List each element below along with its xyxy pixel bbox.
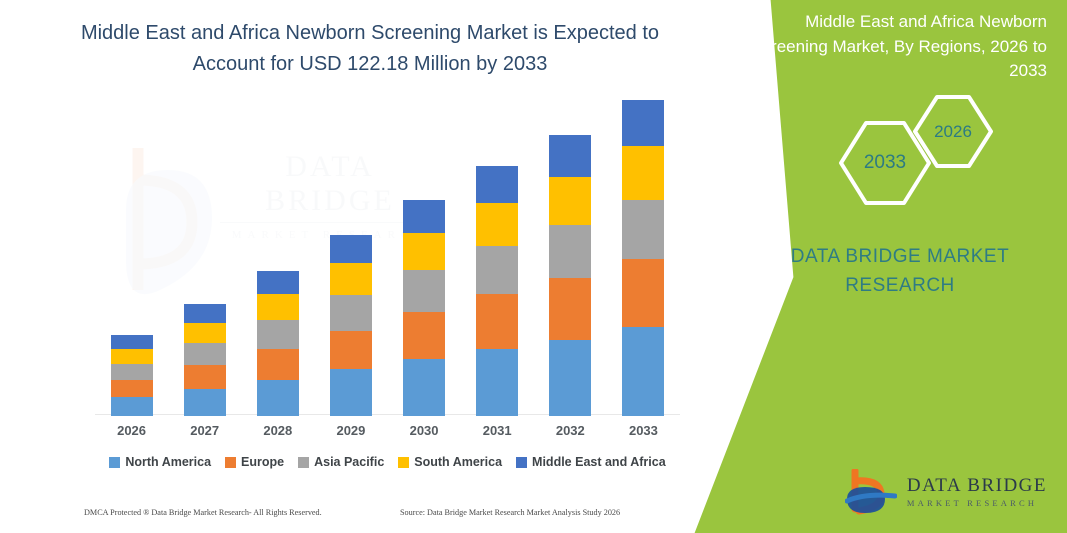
legend-label: Middle East and Africa (532, 455, 666, 469)
bar-segment-2032-south-america (549, 177, 591, 225)
bar-segment-2030-europe (403, 312, 445, 359)
bar-2026 (111, 335, 153, 416)
infographic-canvas: Middle East and Africa Newborn Screening… (0, 0, 1067, 533)
chart-legend: North AmericaEuropeAsia PacificSouth Ame… (95, 455, 680, 469)
x-tick-2031: 2031 (462, 423, 532, 438)
legend-swatch-icon (398, 457, 409, 468)
bar-segment-2030-north-america (403, 359, 445, 416)
logo-main-text: DATA BRIDGE (907, 476, 1047, 495)
bar-segment-2026-middle-east-and-africa (111, 335, 153, 349)
data-bridge-logo: DATA BRIDGE MARKET RESEARCH (845, 469, 1047, 515)
legend-item-south-america[interactable]: South America (398, 455, 502, 469)
hexagon-badges: 2026 2033 (839, 95, 1019, 205)
bar-segment-2028-north-america (257, 380, 299, 416)
bar-segment-2028-middle-east-and-africa (257, 271, 299, 294)
x-tick-2027: 2027 (170, 423, 240, 438)
legend-swatch-icon (109, 457, 120, 468)
x-tick-2033: 2033 (608, 423, 678, 438)
bar-segment-2033-south-america (622, 146, 664, 200)
footer-copyright: DMCA Protected ® Data Bridge Market Rese… (84, 508, 322, 517)
legend-label: Asia Pacific (314, 455, 384, 469)
bar-segment-2033-europe (622, 259, 664, 327)
x-tick-2028: 2028 (243, 423, 313, 438)
x-tick-2026: 2026 (97, 423, 167, 438)
footer: DMCA Protected ® Data Bridge Market Rese… (0, 508, 700, 528)
logo-mark-icon (845, 469, 897, 515)
legend-swatch-icon (298, 457, 309, 468)
legend-item-middle-east-and-africa[interactable]: Middle East and Africa (516, 455, 666, 469)
bar-segment-2033-asia-pacific (622, 200, 664, 259)
bar-2033 (622, 100, 664, 416)
bar-segment-2031-south-america (476, 203, 518, 246)
bar-segment-2030-middle-east-and-africa (403, 200, 445, 233)
bar-2028 (257, 271, 299, 416)
bar-2029 (330, 235, 372, 416)
bar-segment-2029-south-america (330, 263, 372, 295)
x-axis-labels: 20262027202820292030203120322033 (95, 423, 680, 443)
bar-segment-2028-south-america (257, 294, 299, 320)
bar-segment-2027-middle-east-and-africa (184, 304, 226, 322)
bar-segment-2033-middle-east-and-africa (622, 100, 664, 147)
legend-item-europe[interactable]: Europe (225, 455, 284, 469)
page-title: Middle East and Africa Newborn Screening… (60, 18, 680, 80)
footer-source: Source: Data Bridge Market Research Mark… (400, 508, 620, 517)
legend-label: South America (414, 455, 502, 469)
legend-item-asia-pacific[interactable]: Asia Pacific (298, 455, 384, 469)
hexagon-badge-2033: 2033 (839, 121, 931, 205)
bar-segment-2033-north-america (622, 327, 664, 416)
legend-item-north-america[interactable]: North America (109, 455, 211, 469)
legend-swatch-icon (516, 457, 527, 468)
bar-segment-2029-north-america (330, 369, 372, 416)
bar-segment-2028-europe (257, 349, 299, 380)
bar-segment-2029-europe (330, 331, 372, 370)
bar-segment-2027-south-america (184, 323, 226, 343)
bar-segment-2029-asia-pacific (330, 295, 372, 330)
x-tick-2032: 2032 (535, 423, 605, 438)
bar-2030 (403, 200, 445, 416)
bar-segment-2032-europe (549, 278, 591, 339)
stacked-bar-chart (95, 120, 680, 416)
bar-segment-2026-asia-pacific (111, 364, 153, 380)
bar-segment-2030-asia-pacific (403, 270, 445, 312)
bar-2027 (184, 304, 226, 416)
bar-segment-2027-north-america (184, 389, 226, 416)
bar-segment-2027-europe (184, 365, 226, 389)
x-tick-2030: 2030 (389, 423, 459, 438)
bar-segment-2031-europe (476, 294, 518, 349)
bar-segment-2029-middle-east-and-africa (330, 235, 372, 263)
logo-wordmark: DATA BRIDGE MARKET RESEARCH (907, 476, 1047, 508)
bar-segment-2031-middle-east-and-africa (476, 166, 518, 204)
bar-2032 (549, 135, 591, 416)
legend-swatch-icon (225, 457, 236, 468)
legend-label: North America (125, 455, 211, 469)
bar-segment-2031-north-america (476, 349, 518, 416)
legend-label: Europe (241, 455, 284, 469)
hexagon-label-2033: 2033 (839, 121, 931, 205)
bar-segment-2032-north-america (549, 340, 591, 416)
bar-segment-2032-middle-east-and-africa (549, 135, 591, 177)
logo-sub-text: MARKET RESEARCH (907, 499, 1047, 508)
bar-segment-2031-asia-pacific (476, 246, 518, 294)
panel-title: Middle East and Africa Newborn Screening… (747, 10, 1047, 84)
bar-segment-2030-south-america (403, 233, 445, 271)
bar-segment-2026-north-america (111, 397, 153, 416)
x-tick-2029: 2029 (316, 423, 386, 438)
bar-segment-2028-asia-pacific (257, 320, 299, 348)
brand-name: DATA BRIDGE MARKET RESEARCH (755, 243, 1045, 300)
bar-2031 (476, 166, 518, 416)
bar-segment-2026-south-america (111, 349, 153, 364)
bar-segment-2032-asia-pacific (549, 225, 591, 279)
bar-segment-2027-asia-pacific (184, 343, 226, 365)
bar-segment-2026-europe (111, 380, 153, 397)
